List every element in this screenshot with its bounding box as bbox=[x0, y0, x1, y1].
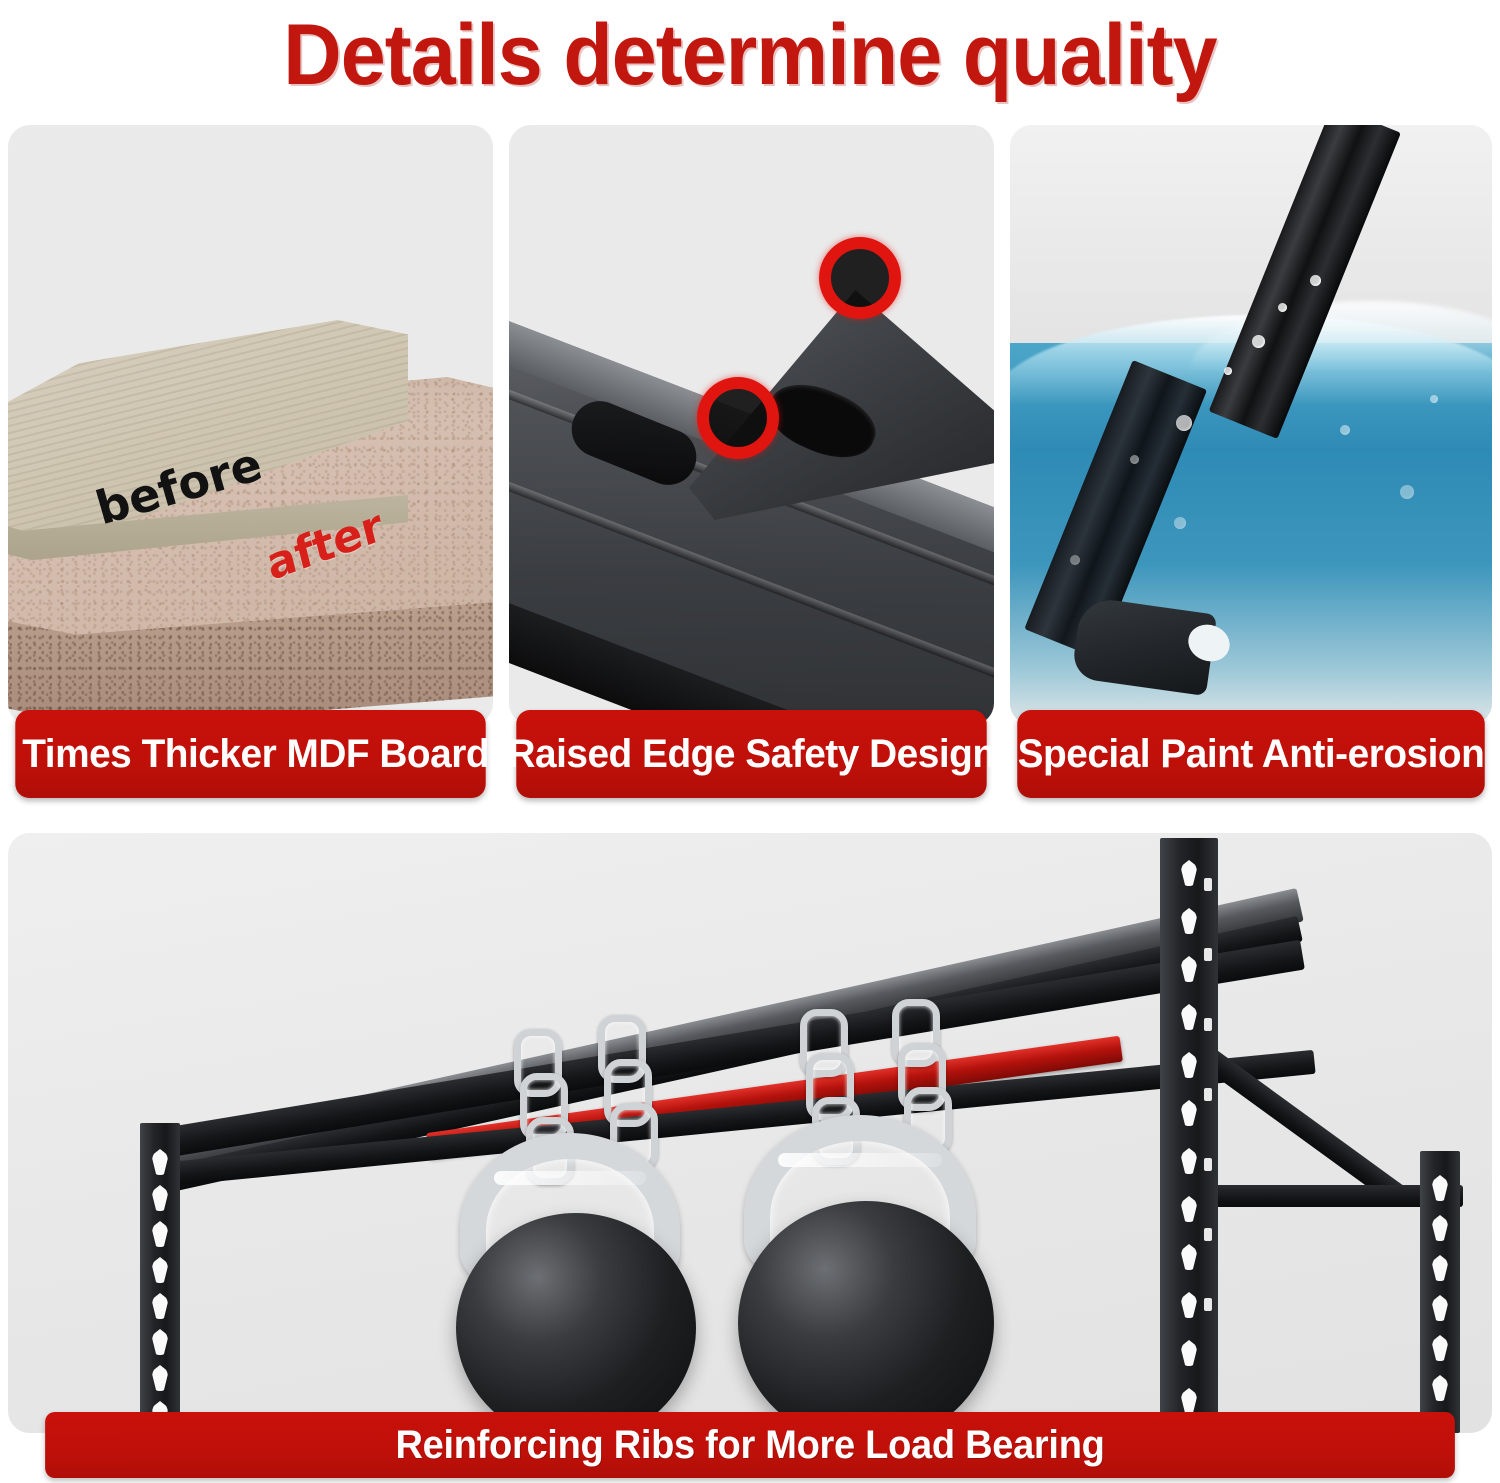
highlight-ring-right bbox=[819, 237, 901, 319]
bubble bbox=[1310, 275, 1321, 286]
feature-card-anti-erosion[interactable]: Special Paint Anti-erosion bbox=[1010, 118, 1492, 808]
shelving-rack-illustration bbox=[8, 833, 1492, 1433]
reinforcing-ribs-image bbox=[8, 833, 1492, 1433]
mdf-illustration: before after bbox=[8, 125, 493, 725]
caption-mdf-boards: 3 Times Thicker MDF Boards bbox=[15, 710, 485, 798]
bubble bbox=[1070, 555, 1080, 565]
bubble bbox=[1340, 425, 1350, 435]
bubble bbox=[1400, 485, 1414, 499]
feature-card-mdf-boards[interactable]: before after 3 Times Thicker MDF Boards bbox=[8, 118, 493, 808]
caption-raised-edge: Raised Edge Safety Design bbox=[516, 710, 986, 798]
feature-card-row: before after 3 Times Thicker MDF Boards bbox=[0, 118, 1500, 808]
caption-anti-erosion: Special Paint Anti-erosion bbox=[1017, 710, 1485, 798]
bubble bbox=[1252, 335, 1265, 348]
bubble bbox=[1224, 367, 1232, 375]
highlight-ring-left bbox=[697, 377, 779, 459]
raised-edge-image bbox=[509, 125, 994, 725]
rack-post-center-right bbox=[1160, 838, 1218, 1433]
rack-post-far-right bbox=[1420, 1151, 1460, 1433]
bubble bbox=[1176, 415, 1192, 431]
bubble bbox=[1278, 303, 1287, 312]
anti-erosion-image bbox=[1010, 125, 1492, 725]
rack-post-left bbox=[140, 1123, 180, 1433]
beam-illustration bbox=[509, 125, 994, 725]
feature-card-raised-edge[interactable]: Raised Edge Safety Design bbox=[509, 118, 994, 808]
bubble bbox=[1430, 395, 1438, 403]
water-illustration bbox=[1010, 125, 1492, 725]
feature-card-reinforcing-ribs[interactable]: Reinforcing Ribs for More Load Bearing bbox=[8, 833, 1492, 1478]
bubble bbox=[1174, 517, 1186, 529]
bubble bbox=[1130, 455, 1139, 464]
page-title: Details determine quality bbox=[45, 0, 1455, 110]
mdf-boards-image: before after bbox=[8, 125, 493, 725]
caption-reinforcing-ribs: Reinforcing Ribs for More Load Bearing bbox=[45, 1412, 1455, 1478]
